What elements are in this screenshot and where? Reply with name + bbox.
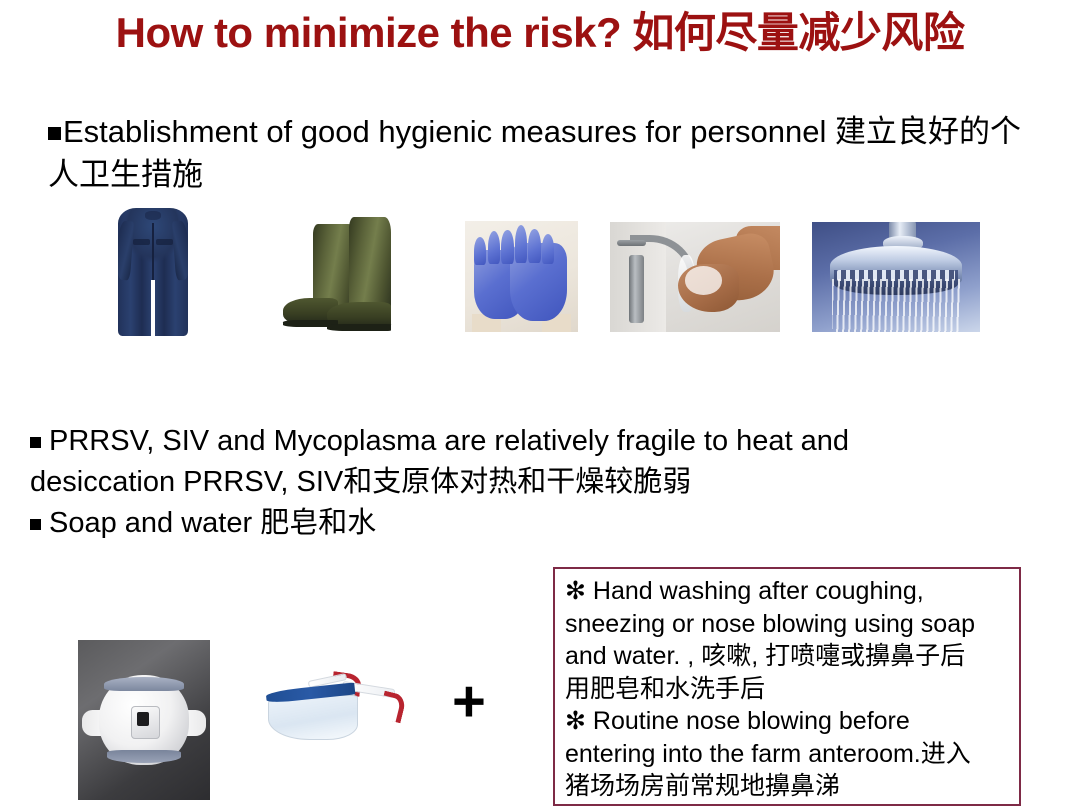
note-line-3: and water. , 咳嗽, 打喷嚏或擤鼻子后: [565, 640, 1011, 673]
soap-foam: [685, 266, 722, 295]
note-line-5: ✻ Routine nose blowing before: [565, 705, 1011, 738]
note-box: ✻ Hand washing after coughing, sneezing …: [553, 567, 1021, 806]
note-line-7: 猪场场房前常规地擤鼻涕: [565, 770, 1011, 803]
bullet-primary-text: Establishment of good hygienic measures …: [48, 114, 1021, 192]
respirator-mask-photo: [78, 640, 210, 800]
glove-finger-2: [488, 231, 500, 264]
note-line-4: 用肥皂和水洗手后: [565, 673, 1011, 706]
note-line-1: ✻ Hand washing after coughing,: [565, 575, 1011, 608]
nitrile-gloves-photo: [465, 221, 578, 332]
bullet-block-primary: Establishment of good hygienic measures …: [48, 111, 1048, 197]
handwashing-photo: [610, 222, 780, 332]
bullet-secondary-line-2: desiccation PRRSV, SIV和支原体对热和干燥较脆弱: [30, 462, 930, 503]
coverall-pocket-left: [133, 239, 150, 245]
boot-right-shaft: [349, 217, 390, 313]
safety-glasses-photo: [265, 668, 407, 746]
presentation-slide: How to minimize the risk? 如何尽量减少风险 Estab…: [0, 0, 1080, 810]
rubber-boots-photo: [272, 212, 410, 332]
bullet-secondary-line-1: PRRSV, SIV and Mycoplasma are relatively…: [49, 425, 849, 457]
shower-head-photo: [812, 222, 980, 332]
note-line-6: entering into the farm anteroom.进入: [565, 738, 1011, 771]
coverall-collar: [145, 211, 162, 220]
mask-top-band: [104, 677, 183, 691]
faucet-body: [629, 255, 644, 323]
faucet-handle: [617, 240, 646, 247]
glove-finger-3: [501, 230, 513, 264]
note-line-2: sneezing or nose blowing using soap: [565, 608, 1011, 641]
glove-finger-5: [528, 229, 540, 263]
shower-water-jets: [832, 279, 960, 332]
bullet-secondary-line-3-row: Soap and water 肥皂和水: [30, 503, 930, 544]
glove-finger-4: [515, 225, 527, 263]
coverall-pocket-right: [156, 239, 173, 245]
plus-symbol: +: [452, 673, 486, 731]
bullet-secondary-line-3: Soap and water 肥皂和水: [49, 507, 376, 539]
coverall-photo: [118, 208, 188, 336]
boot-right-sole: [327, 324, 390, 331]
page-title: How to minimize the risk? 如何尽量减少风险: [0, 8, 1080, 58]
coverall-leg-gap: [151, 280, 155, 336]
square-bullet-icon: [30, 437, 41, 448]
glove-finger-6: [542, 234, 554, 264]
bullet-secondary-line-1-row: PRRSV, SIV and Mycoplasma are relatively…: [30, 421, 930, 462]
square-bullet-icon: [30, 519, 41, 530]
bullet-block-secondary: PRRSV, SIV and Mycoplasma are relatively…: [30, 421, 930, 545]
square-bullet-icon: [48, 127, 61, 140]
coverall-zipper: [152, 223, 154, 282]
mask-valve-port: [137, 712, 149, 726]
